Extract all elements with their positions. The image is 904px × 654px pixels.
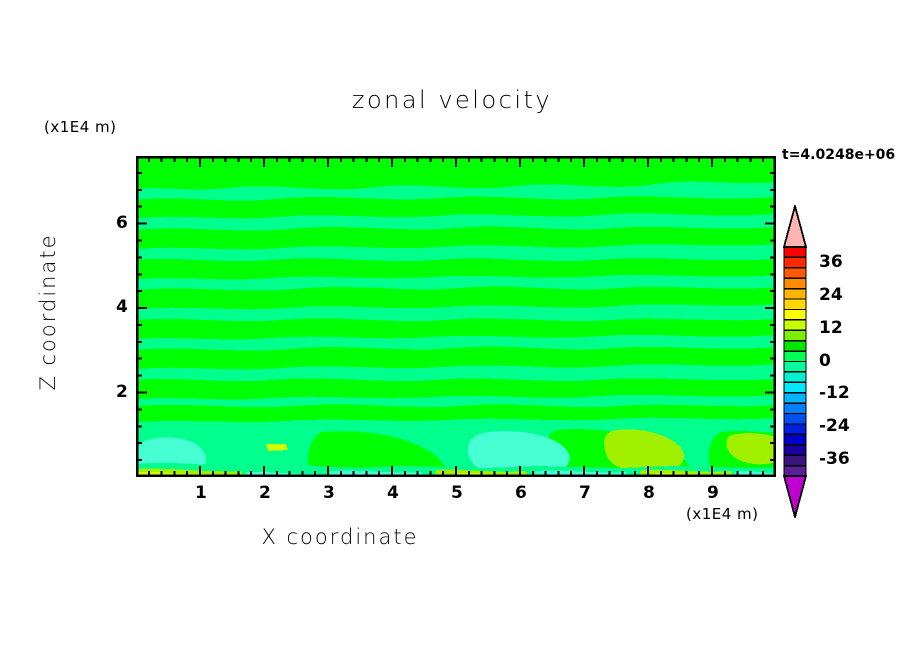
colorbar-tick-label: 36 bbox=[819, 252, 843, 272]
y-tick-label: 2 bbox=[116, 382, 128, 402]
colorbar-band bbox=[784, 309, 806, 320]
x-axis-unit-label: (x1E4 m) bbox=[686, 505, 759, 523]
colorbar-band bbox=[784, 257, 806, 268]
x-tick-label: 2 bbox=[259, 483, 271, 503]
colorbar-under-cap bbox=[784, 476, 806, 517]
timestamp-annotation: t=4.0248e+06 bbox=[782, 147, 895, 163]
colorbar-band bbox=[784, 268, 806, 279]
colorbar-band bbox=[784, 434, 806, 445]
x-tick-label: 3 bbox=[323, 483, 335, 503]
colorbar-tick-label: 12 bbox=[819, 318, 843, 338]
chart-title: zonal velocity bbox=[0, 86, 904, 114]
colorbar-band bbox=[784, 351, 806, 362]
x-tick-label: 7 bbox=[579, 483, 591, 503]
colorbar-band bbox=[784, 382, 806, 393]
x-axis-title: X coordinate bbox=[0, 525, 680, 549]
x-tick-label: 8 bbox=[643, 483, 655, 503]
x-tick-label: 9 bbox=[707, 483, 719, 503]
colorbar-band bbox=[784, 278, 806, 289]
colorbar-band bbox=[784, 445, 806, 456]
colorbar bbox=[778, 205, 812, 518]
colorbar-band bbox=[784, 403, 806, 414]
colorbar-band bbox=[784, 299, 806, 310]
y-axis-unit-label: (x1E4 m) bbox=[44, 118, 117, 136]
colorbar-band bbox=[784, 414, 806, 425]
x-tick-label: 5 bbox=[451, 483, 463, 503]
colorbar-band bbox=[784, 247, 806, 258]
colorbar-band bbox=[784, 393, 806, 404]
colorbar-band bbox=[784, 362, 806, 373]
x-tick-label: 6 bbox=[515, 483, 527, 503]
y-axis-title: Z coordinate bbox=[36, 212, 60, 412]
colorbar-tick-label: 24 bbox=[819, 285, 843, 305]
y-tick-label: 4 bbox=[116, 297, 128, 317]
x-tick-label: 1 bbox=[195, 483, 207, 503]
colorbar-band bbox=[784, 320, 806, 331]
colorbar-band bbox=[784, 455, 806, 466]
colorbar-band bbox=[784, 341, 806, 352]
colorbar-tick-label: -36 bbox=[819, 449, 850, 469]
figure-canvas: zonal velocity (x1E4 m) (x1E4 m) X coord… bbox=[0, 0, 904, 654]
colorbar-tick-label: 0 bbox=[819, 351, 831, 371]
colorbar-tick-label: -12 bbox=[819, 383, 850, 403]
colorbar-band bbox=[784, 424, 806, 435]
colorbar-over-cap bbox=[784, 206, 806, 247]
colorbar-band bbox=[784, 372, 806, 383]
colorbar-band bbox=[784, 330, 806, 341]
contour-plot-area bbox=[136, 156, 776, 477]
colorbar-band bbox=[784, 466, 806, 477]
colorbar-tick-label: -24 bbox=[819, 416, 850, 436]
colorbar-band bbox=[784, 289, 806, 300]
y-tick-label: 6 bbox=[116, 213, 128, 233]
x-tick-label: 4 bbox=[387, 483, 399, 503]
